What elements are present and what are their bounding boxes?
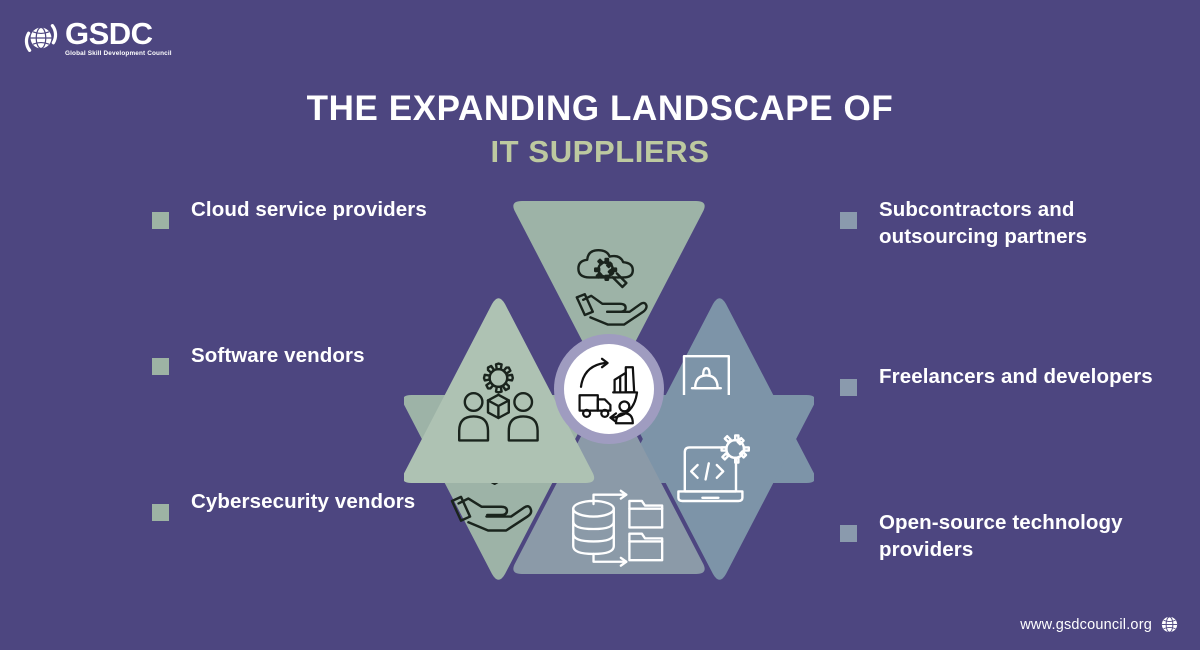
logo-text-group: GSDC Global Skill Development Council xyxy=(65,18,172,57)
right-bullet-column: Subcontractors and outsourcing partners … xyxy=(840,196,1160,563)
hexagon-diagram xyxy=(404,190,814,585)
list-item-label: Cybersecurity vendors xyxy=(191,488,415,515)
bullet-square-icon xyxy=(840,525,857,542)
hexagon-diagram-svg xyxy=(404,190,814,585)
list-item-label: Cloud service providers xyxy=(191,196,427,223)
center-node[interactable] xyxy=(554,334,664,444)
title-line-primary: THE EXPANDING LANDSCAPE OF xyxy=(0,88,1200,130)
list-item-label: Open-source technology providers xyxy=(879,509,1160,563)
logo-name: GSDC xyxy=(65,18,172,49)
list-item-label: Software vendors xyxy=(191,342,365,369)
bullet-square-icon xyxy=(152,504,169,521)
list-item: Freelancers and developers xyxy=(840,363,1160,396)
title-line-accent: IT SUPPLIERS xyxy=(0,133,1200,172)
footer-url[interactable]: www.gsdcouncil.org xyxy=(1020,617,1152,633)
infographic-canvas: GSDC Global Skill Development Council TH… xyxy=(0,0,1200,650)
footer: www.gsdcouncil.org xyxy=(1020,616,1178,633)
bullet-square-icon xyxy=(152,358,169,375)
list-item: Open-source technology providers xyxy=(840,509,1160,563)
bullet-square-icon xyxy=(840,379,857,396)
center-circle xyxy=(564,344,654,434)
bullet-square-icon xyxy=(840,212,857,229)
list-item-label: Subcontractors and outsourcing partners xyxy=(879,196,1160,250)
globe-icon xyxy=(22,19,60,57)
list-item-label: Freelancers and developers xyxy=(879,363,1153,390)
list-item: Subcontractors and outsourcing partners xyxy=(840,196,1160,250)
globe-icon xyxy=(1161,616,1178,633)
logo-tagline: Global Skill Development Council xyxy=(65,51,172,57)
brand-logo: GSDC Global Skill Development Council xyxy=(22,18,172,57)
page-title: THE EXPANDING LANDSCAPE OF IT SUPPLIERS xyxy=(0,88,1200,172)
bullet-square-icon xyxy=(152,212,169,229)
